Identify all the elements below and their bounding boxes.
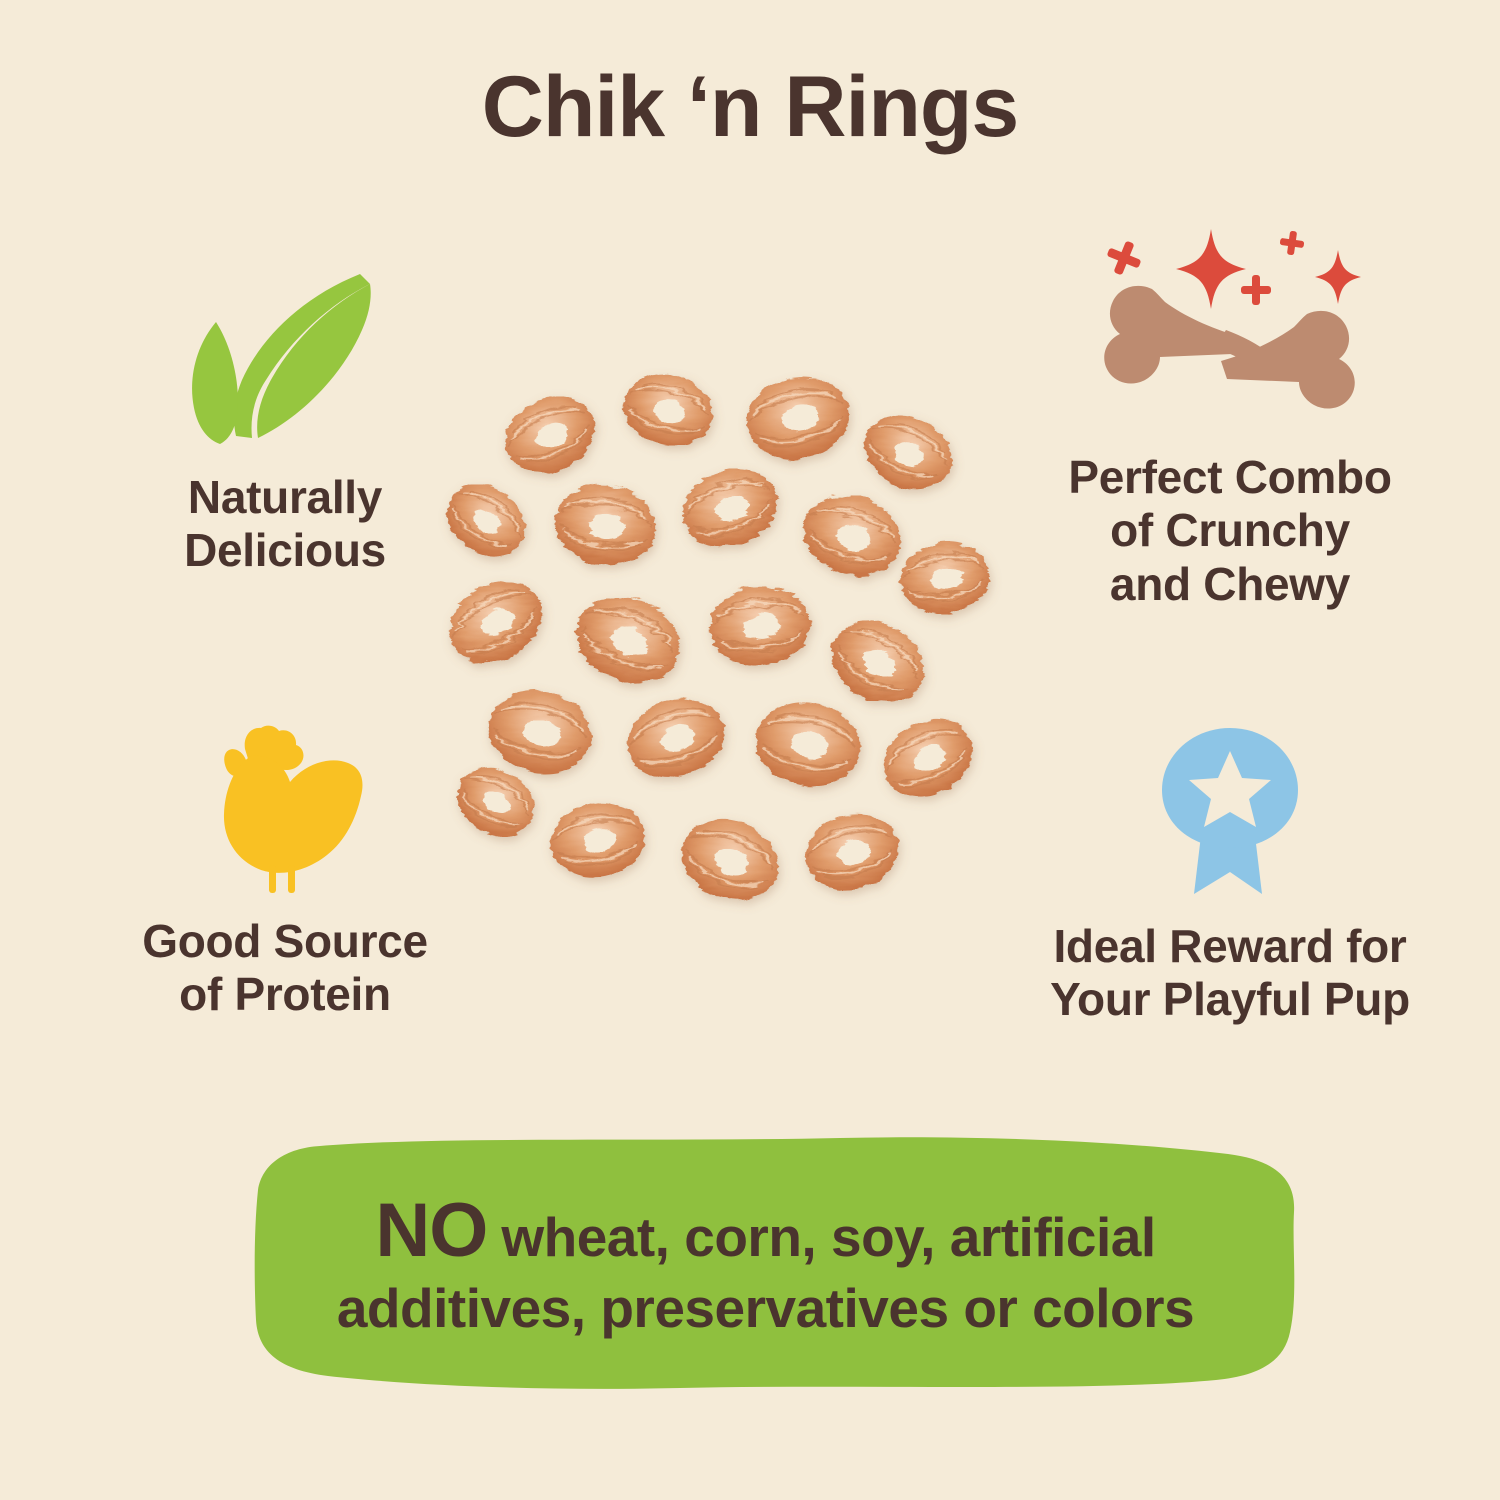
no-ingredients-banner: NO wheat, corn, soy, artificial additive…	[228, 1128, 1303, 1396]
leaves-icon	[180, 268, 390, 453]
chicken-rings-pile	[400, 340, 1030, 960]
feature-label: Ideal Reward for Your Playful Pup	[1050, 920, 1410, 1027]
award-ribbon-icon	[1150, 722, 1310, 902]
chicken-icon-wrap	[193, 722, 378, 897]
feature-label: Naturally Delicious	[184, 471, 386, 578]
chicken-icon	[193, 722, 378, 897]
bone-sparkle-icon-wrap	[1080, 218, 1380, 433]
banner-line-1-rest: wheat, corn, soy, artificial	[501, 1206, 1155, 1269]
banner-emphasis-no: NO	[375, 1188, 487, 1275]
feature-label: Good Source of Protein	[142, 915, 428, 1022]
product-infographic: Chik ‘n Rings Naturally Delicious	[0, 0, 1500, 1500]
feature-ideal-reward: Ideal Reward for Your Playful Pup	[995, 722, 1465, 1027]
bone-shape	[1104, 286, 1355, 409]
banner-line-1: NO wheat, corn, soy, artificial	[375, 1188, 1155, 1275]
page-title: Chik ‘n Rings	[0, 62, 1500, 152]
leaves-icon-wrap	[180, 268, 390, 453]
banner-line-2: additives, preservatives or colors	[337, 1277, 1194, 1340]
award-ribbon-icon-wrap	[1150, 722, 1310, 902]
product-photo	[400, 340, 1030, 960]
bone-sparkle-icon	[1080, 218, 1380, 433]
feature-perfect-combo: Perfect Combo of Crunchy and Chewy	[995, 218, 1465, 611]
banner-text: NO wheat, corn, soy, artificial additive…	[228, 1128, 1303, 1396]
feature-label: Perfect Combo of Crunchy and Chewy	[1068, 451, 1391, 611]
